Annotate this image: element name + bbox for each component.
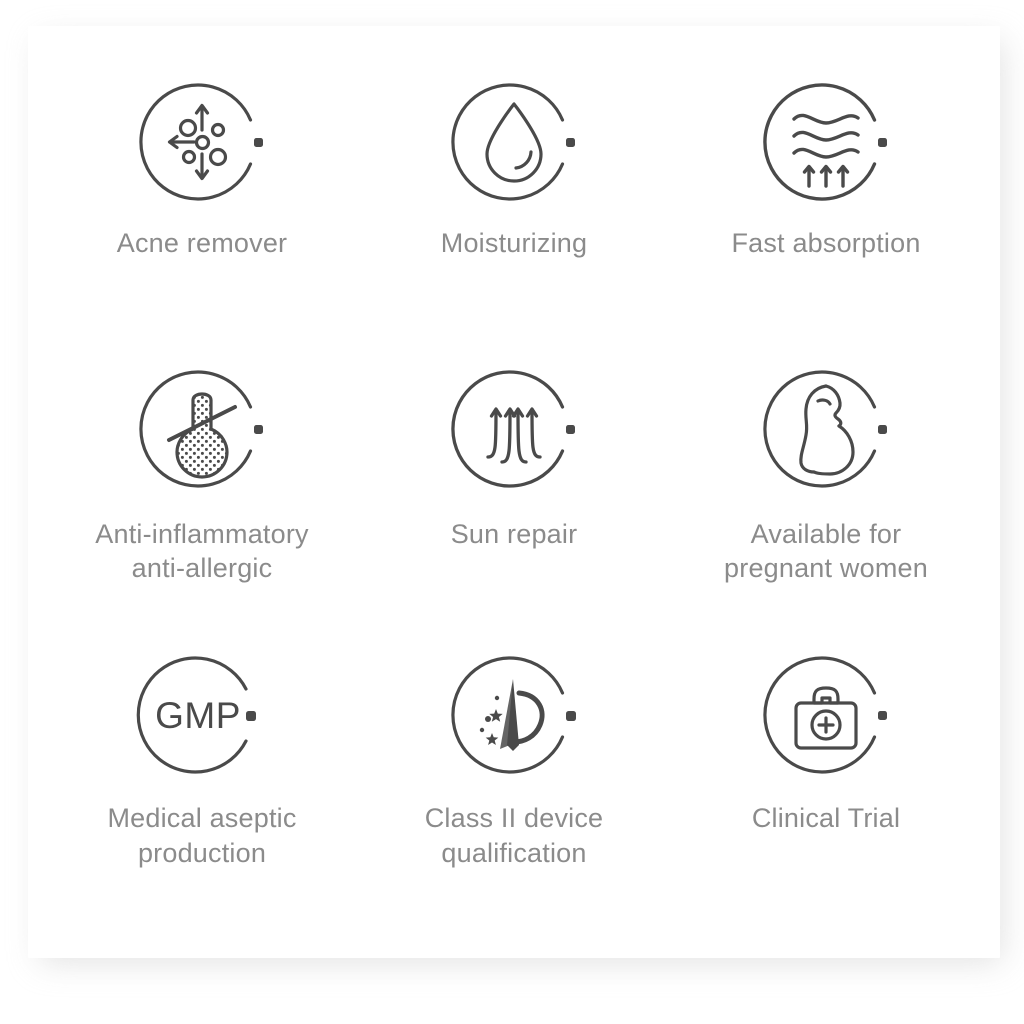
feature-label: Sun repair xyxy=(451,517,578,552)
gmp-label: GMP xyxy=(155,695,241,736)
feature-item-gmp-production[interactable]: GMP Medical aseptic production xyxy=(46,641,358,928)
medical-kit-icon xyxy=(752,641,900,789)
rocket-stars-icon xyxy=(440,641,588,789)
feature-item-acne-remover[interactable]: Acne remover xyxy=(46,68,358,355)
gmp-badge-icon: GMP xyxy=(128,641,276,789)
feature-label: Clinical Trial xyxy=(752,801,900,836)
feature-item-class-ii-device[interactable]: Class II device qualification xyxy=(358,641,670,928)
feature-card: Acne remover Moisturizing xyxy=(28,26,1000,958)
feature-item-clinical-trial[interactable]: Clinical Trial xyxy=(670,641,982,928)
feature-label: Fast absorption xyxy=(731,226,920,261)
waves-absorption-icon xyxy=(752,68,900,216)
feature-label: Class II device qualification xyxy=(425,801,604,870)
feature-label: Acne remover xyxy=(117,226,287,261)
rising-arrows-icon xyxy=(440,355,588,503)
pregnant-woman-icon xyxy=(752,355,900,503)
feature-label: Medical aseptic production xyxy=(107,801,296,870)
water-drop-icon xyxy=(440,68,588,216)
feature-item-pregnant-safe[interactable]: Available for pregnant women xyxy=(670,355,982,642)
feature-item-anti-inflammatory[interactable]: Anti-inflammatory anti-allergic xyxy=(46,355,358,642)
feature-grid: Acne remover Moisturizing xyxy=(28,26,1000,958)
blocked-pore-icon xyxy=(128,355,276,503)
feature-item-moisturizing[interactable]: Moisturizing xyxy=(358,68,670,355)
feature-grid-page: Acne remover Moisturizing xyxy=(0,0,1024,1024)
acne-remover-icon xyxy=(128,68,276,216)
feature-label: Available for pregnant women xyxy=(724,517,928,586)
feature-label: Anti-inflammatory anti-allergic xyxy=(95,517,308,586)
feature-item-sun-repair[interactable]: Sun repair xyxy=(358,355,670,642)
feature-label: Moisturizing xyxy=(441,226,587,261)
feature-item-fast-absorption[interactable]: Fast absorption xyxy=(670,68,982,355)
